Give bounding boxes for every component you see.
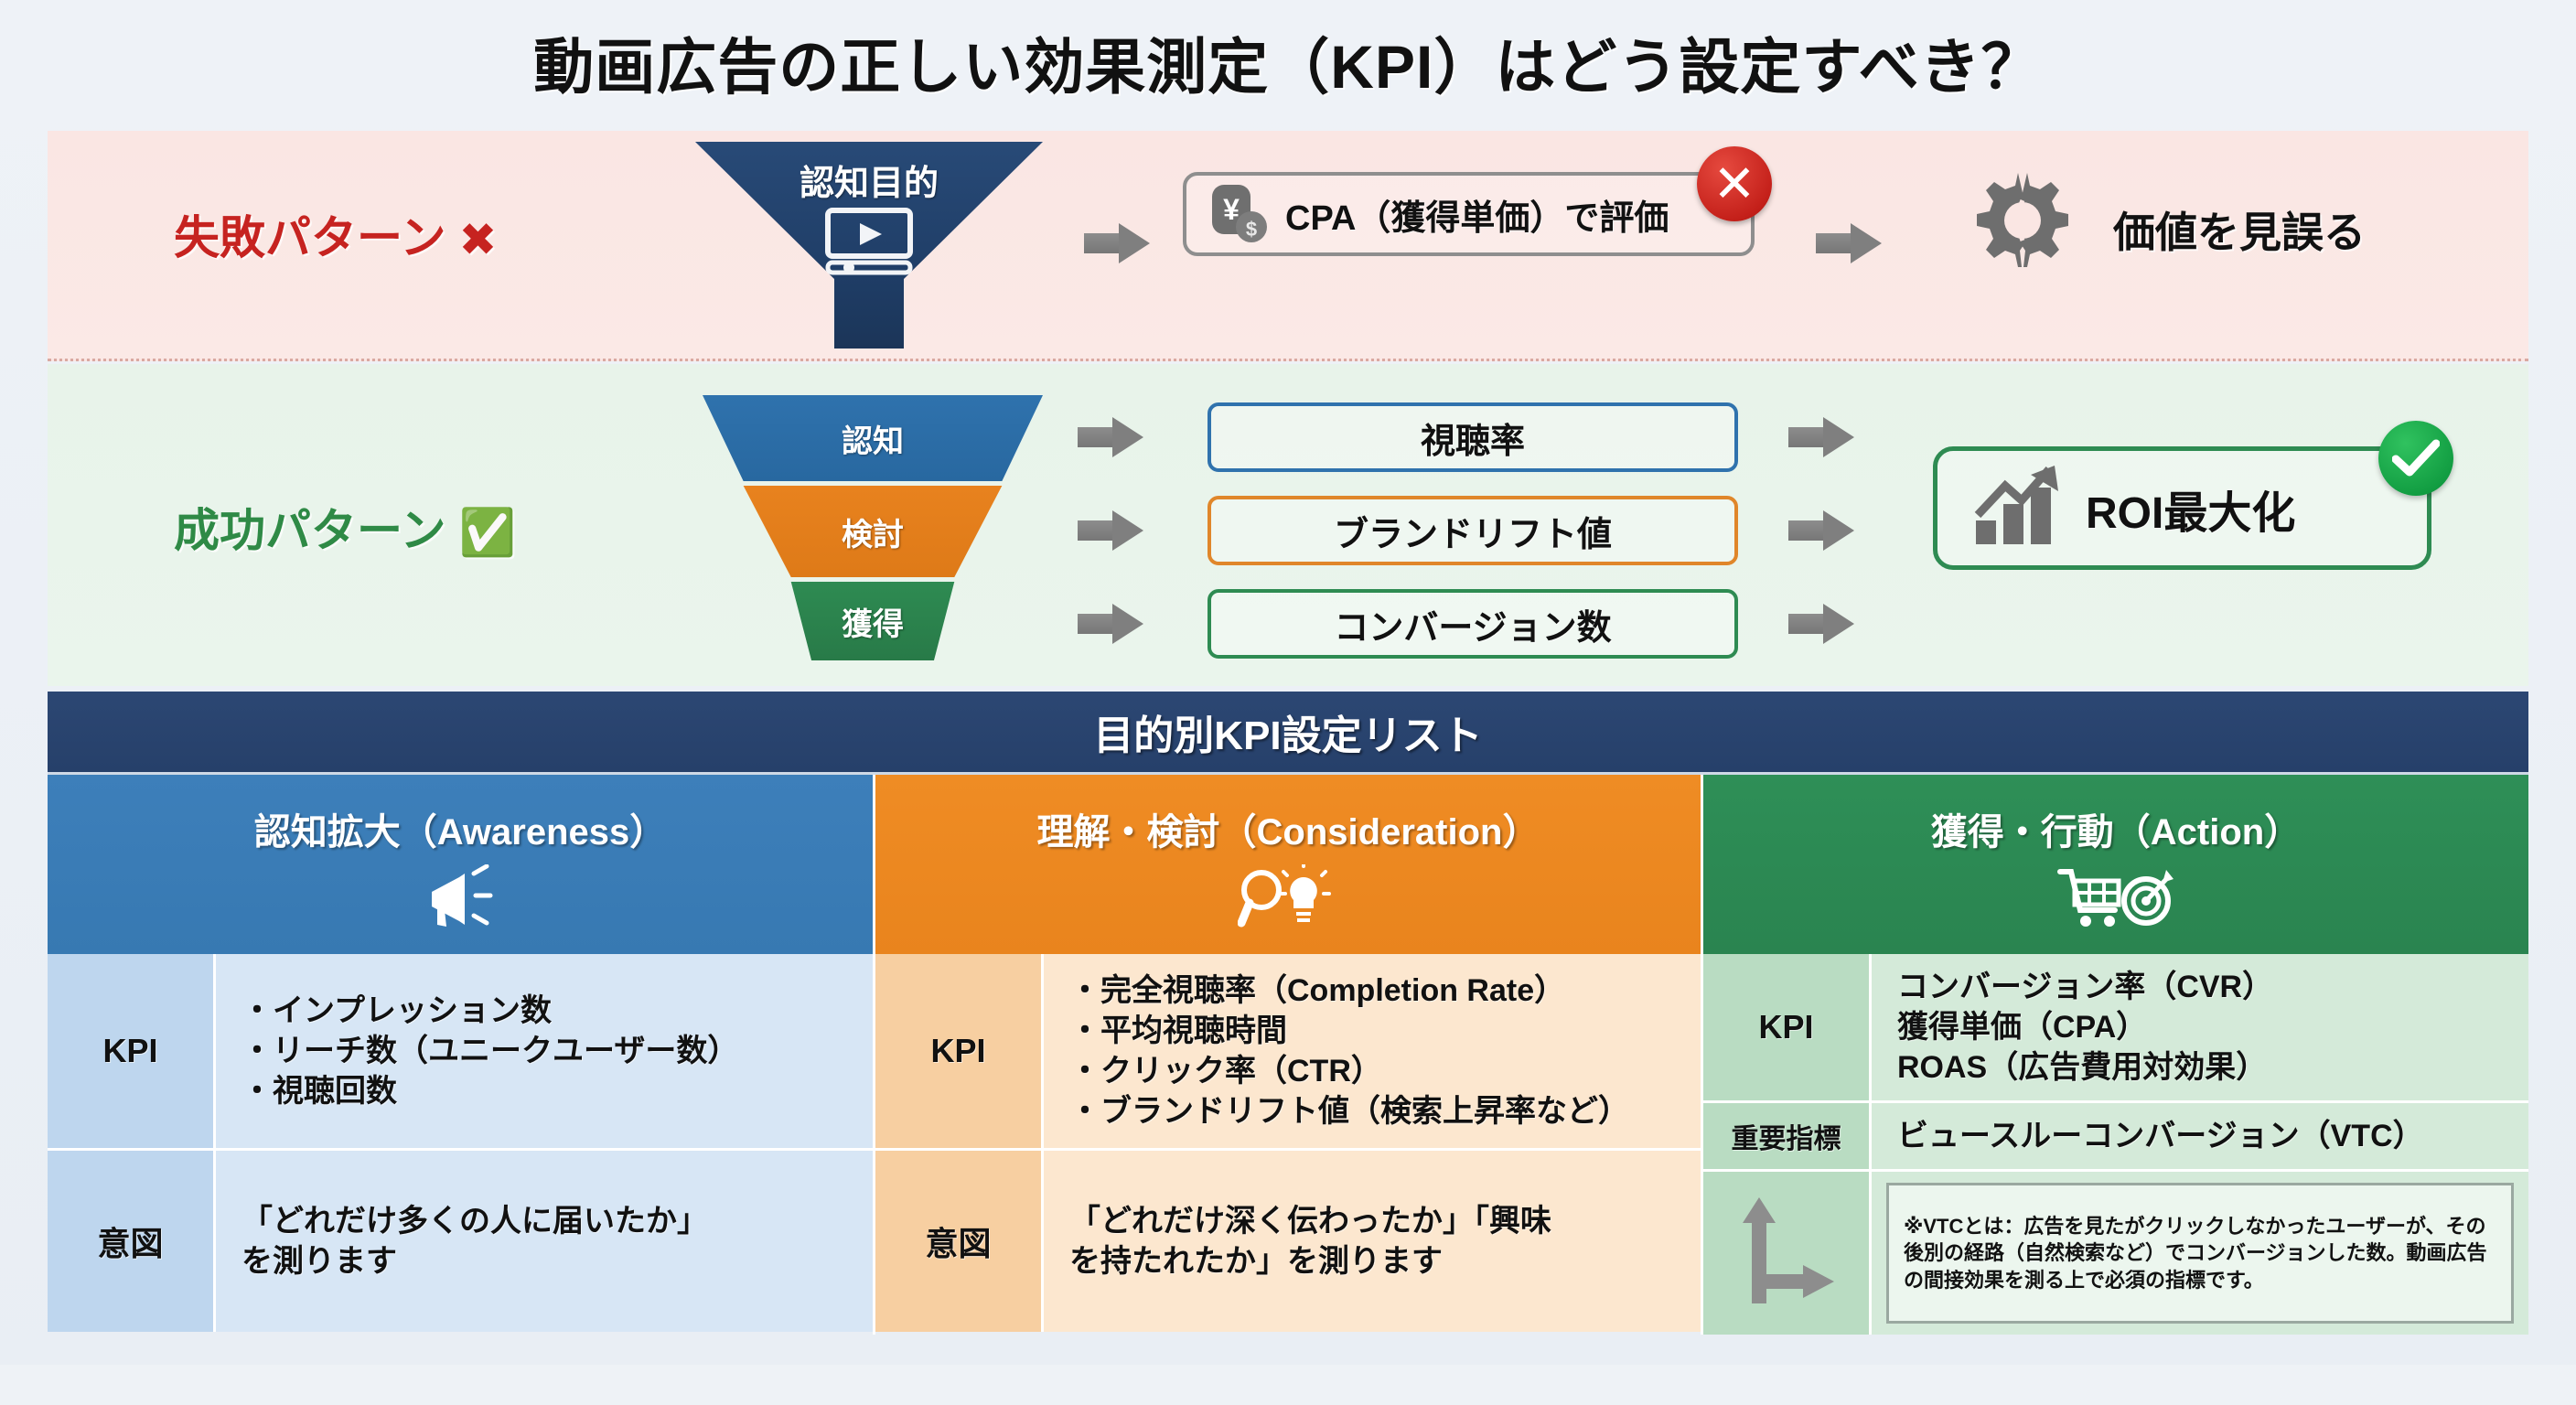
funnel-tier-action-label: 獲得 [703,582,1043,660]
list-item: を測ります [241,1241,860,1282]
arrow-success-3 [1078,604,1143,644]
vtc-callout-arrow-cell [1703,1172,1872,1335]
funnel-tier-awareness: 認知 [703,395,1043,481]
awareness-goal-funnel: 認知目的 [695,142,1043,348]
metric-box-brand-lift: ブランドリフト値 [1207,496,1738,565]
success-badge-icon [2378,421,2453,496]
failure-outcome-text: 価値を見誤る [2113,199,2366,260]
arrow-fail-2 [1816,223,1882,263]
cart-target-icon [2056,864,2175,935]
list-item: ・インプレッション数 [241,991,860,1031]
arrow-success-6 [1788,604,1854,644]
failure-cross-icon: ✖ [459,214,498,265]
roi-maximization-box: ROI最大化 [1933,446,2431,570]
table-row: 重要指標 ビュースルーコンバージョン（VTC） [1703,1100,2528,1169]
list-item: 獲得単価（CPA） [1897,1007,2516,1047]
bent-arrow-icon [1732,1194,1841,1313]
list-item: ・クリック率（CTR） [1069,1051,1688,1091]
roi-maximization-text: ROI最大化 [2086,477,2295,541]
row-key-important-metric: 重要指標 [1703,1103,1872,1169]
list-item: ・視聴回数 [241,1071,860,1111]
funnel-neck [834,277,904,349]
video-player-icon [825,208,913,280]
table-row: KPI ・完全視聴率（Completion Rate） ・平均視聴時間 ・クリッ… [875,954,1701,1148]
success-funnel: 認知 検討 獲得 [703,395,1043,660]
cpa-evaluation-box: ¥ $ CPA（獲得単価）で評価 [1183,172,1755,256]
kpi-column-consideration-title: 理解・検討（Consideration） [1037,802,1540,855]
row-key-intent: 意図 [875,1151,1044,1332]
kpi-column-awareness-title: 認知拡大（Awareness） [254,802,667,855]
row-key-kpi: KPI [48,954,216,1148]
arrow-success-5 [1788,510,1854,551]
failure-pattern-text: 失敗パターン [174,212,446,263]
arrow-success-2 [1078,510,1143,551]
kpi-table: 目的別KPI設定リスト 認知拡大（Awareness） [48,692,2528,1335]
list-item: ROAS（広告費用対効果） [1897,1047,2516,1088]
list-item: ・リーチ数（ユニークユーザー数） [241,1031,860,1071]
funnel-tier-awareness-label: 認知 [703,395,1043,481]
yen-coin-icon: ¥ $ [1208,179,1269,250]
kpi-column-consideration-header: 理解・検討（Consideration） [875,775,1701,954]
list-item: 「どれだけ多くの人に届いたか」 [241,1201,860,1241]
svg-text:$: $ [1246,218,1257,241]
row-value-kpi: コンバージョン率（CVR） 獲得単価（CPA） ROAS（広告費用対効果） [1872,954,2528,1100]
kpi-column-action-header: 獲得・行動（Action） [1703,775,2528,954]
row-value-kpi: ・インプレッション数 ・リーチ数（ユニークユーザー数） ・視聴回数 [216,954,873,1148]
table-row: 意図 「どれだけ深く伝わったか」「興味 を持たれたか」を測ります [875,1148,1701,1332]
list-item: コンバージョン率（CVR） [1897,967,2516,1007]
list-item: を持たれたか」を測ります [1069,1241,1688,1282]
magnifier-bulb-icon [1238,864,1338,935]
table-row: ※VTCとは：広告を見たがクリックしなかったユーザーが、その後別の経路（自然検索… [1703,1169,2528,1335]
error-badge-glyph: ✕ [1713,158,1756,209]
row-key-kpi: KPI [1703,954,1872,1100]
metric-box-view-rate: 視聴率 [1207,402,1738,472]
row-key-intent: 意図 [48,1151,216,1332]
list-item: ・完全視聴率（Completion Rate） [1069,971,1688,1011]
broken-gear-icon [1971,169,2074,276]
row-key-kpi: KPI [875,954,1044,1148]
row-value-intent: 「どれだけ多くの人に届いたか」 を測ります [216,1151,873,1332]
megaphone-icon [423,864,498,935]
list-item: 「どれだけ深く伝わったか」「興味 [1069,1201,1688,1241]
funnel-tier-action: 獲得 [703,582,1043,660]
table-row: KPI ・インプレッション数 ・リーチ数（ユニークユーザー数） ・視聴回数 [48,954,873,1148]
row-value-kpi: ・完全視聴率（Completion Rate） ・平均視聴時間 ・クリック率（C… [1044,954,1701,1148]
footer-spacer [0,1365,2576,1405]
failure-pattern-label: 失敗パターン✖ [174,201,497,267]
funnel-label: 認知目的 [695,155,1043,205]
growth-chart-icon [1970,464,2066,552]
success-pattern-text: 成功パターン [174,505,446,556]
kpi-column-awareness: 認知拡大（Awareness） KPI [48,775,873,1335]
list-item: ・平均視聴時間 [1069,1011,1688,1051]
row-value-important-metric: ビュースルーコンバージョン（VTC） [1872,1103,2528,1169]
kpi-column-consideration: 理解・検討（Consideration） KPI [873,775,1701,1335]
error-badge-icon: ✕ [1697,146,1772,221]
list-item: ビュースルーコンバージョン（VTC） [1897,1116,2516,1156]
kpi-column-action-title: 獲得・行動（Action） [1931,802,2301,855]
kpi-table-columns: 認知拡大（Awareness） KPI [48,775,2528,1335]
arrow-fail-1 [1084,223,1150,263]
arrow-success-4 [1788,417,1854,457]
cpa-evaluation-text: CPA（獲得単価）で評価 [1285,189,1669,240]
kpi-column-awareness-header: 認知拡大（Awareness） [48,775,873,954]
metric-box-conversions: コンバージョン数 [1207,589,1738,659]
success-check-icon: ✅ [459,507,516,558]
table-row: KPI コンバージョン率（CVR） 獲得単価（CPA） ROAS（広告費用対効果… [1703,954,2528,1100]
kpi-table-title: 目的別KPI設定リスト [48,692,2528,775]
list-item: ・ブランドリフト値（検索上昇率など） [1069,1091,1688,1132]
check-glyph [2392,439,2440,477]
table-row: 意図 「どれだけ多くの人に届いたか」 を測ります [48,1148,873,1332]
arrow-success-1 [1078,417,1143,457]
infographic-page: 動画広告の正しい効果測定（KPI）はどう設定すべき？ 失敗パターン✖ 認知目的 … [0,0,2576,1405]
page-title: 動画広告の正しい効果測定（KPI）はどう設定すべき？ [0,18,2576,106]
row-value-intent: 「どれだけ深く伝わったか」「興味 を持たれたか」を測ります [1044,1151,1701,1332]
funnel-tier-consideration-label: 検討 [703,486,1043,577]
success-pattern-label: 成功パターン✅ [174,494,516,560]
row-value-vtc-note: ※VTCとは：広告を見たがクリックしなかったユーザーが、その後別の経路（自然検索… [1872,1172,2528,1335]
kpi-column-action: 獲得・行動（Action） [1701,775,2528,1335]
funnel-tier-consideration: 検討 [703,486,1043,577]
vtc-note-box: ※VTCとは：広告を見たがクリックしなかったユーザーが、その後別の経路（自然検索… [1886,1183,2514,1324]
